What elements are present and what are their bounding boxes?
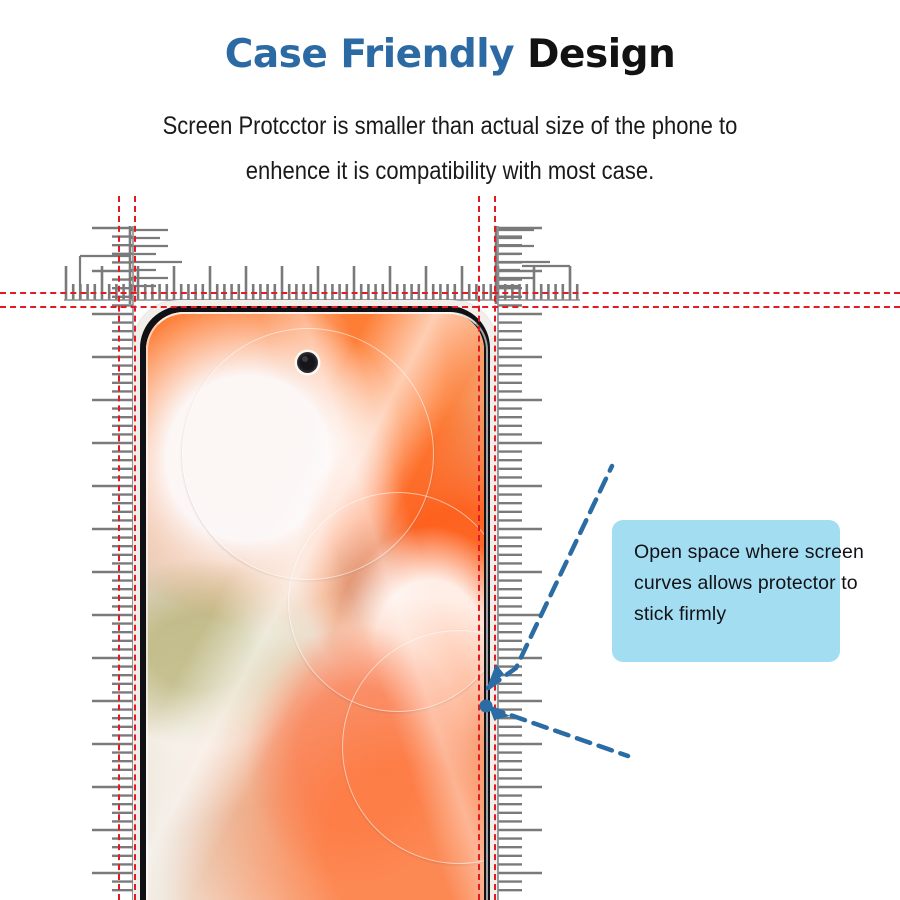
callout-top-line-3: stick firmly	[634, 599, 820, 630]
callout-open-space[interactable]: Open space where screen curves allows pr…	[612, 520, 840, 662]
infographic-page: Case Friendly Design Screen Protcctor is…	[0, 0, 900, 900]
subtitle-line-1: Screen Protcctor is smaller than actual …	[151, 104, 749, 149]
front-camera-icon	[297, 352, 318, 373]
diagram-stage: Open space where screen curves allows pr…	[0, 196, 900, 900]
leader-line-top	[470, 446, 630, 686]
title-highlight: Case Friendly	[225, 32, 514, 77]
subtitle-line-2: enhence it is compatibility with most ca…	[151, 149, 749, 194]
phone-screen	[146, 312, 484, 900]
page-title: Case Friendly Design	[0, 32, 900, 77]
callout-top-line-2: curves allows protector to	[634, 568, 820, 599]
callout-top-line-1: Open space where screen	[634, 537, 820, 568]
wallpaper-sheen	[146, 312, 484, 900]
title-rest: Design	[527, 32, 675, 77]
page-subtitle: Screen Protcctor is smaller than actual …	[151, 104, 749, 194]
leader-line-bottom	[468, 694, 638, 774]
ruler-left	[64, 226, 136, 900]
